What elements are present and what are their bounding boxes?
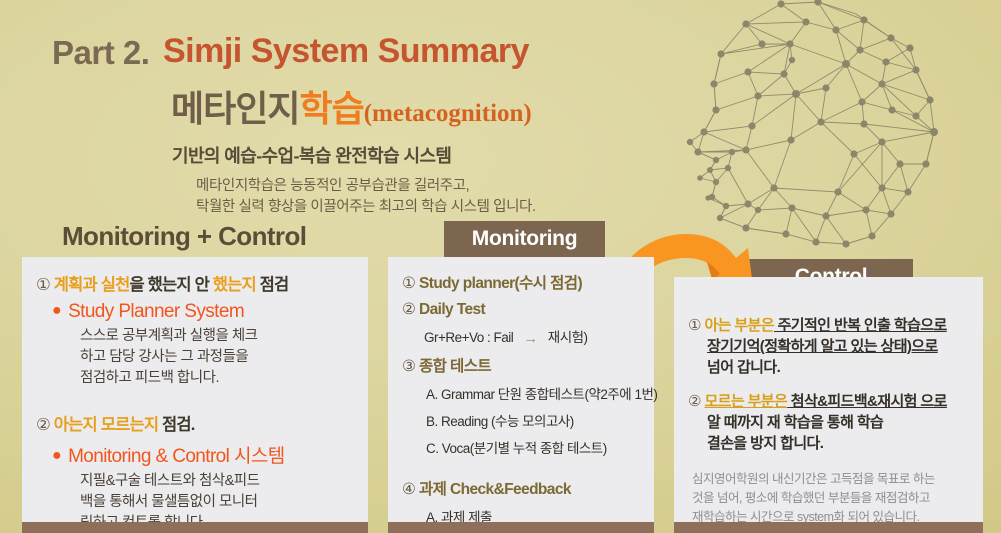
left-item-2-bullet: ●Monitoring & Control 시스템 (52, 441, 356, 468)
control-panel-note: 심지영어학원의 내신기간은 고득점을 목표로 하는 것을 넘어, 평소에 학습했… (692, 470, 971, 527)
monitoring-panel: ① Study planner(수시 점검) ② Daily Test Gr+R… (388, 257, 654, 533)
control-item-1-line-2: 장기기억(정확하게 알고 있는 상태)으로 (707, 338, 938, 355)
daily-test-result: 재시험) (548, 330, 588, 345)
circle-number-1: ① (688, 317, 701, 334)
description-line-1: 메타인지학습은 능동적인 공부습관을 길러주고, (196, 176, 536, 197)
left-item-1-body-line-1: 스스로 공부계획과 실행을 체크 (80, 326, 356, 347)
monitoring-item-2-sub: Gr+Re+Vo : Fail→재시험) (424, 326, 642, 347)
left-item-1-bullet-label: Study Planner System (68, 301, 244, 322)
monitoring-item-3-sub-c: C. Voca(분기별 누적 종합 테스트) (426, 437, 642, 457)
left-item-2-highlight-a: 아는지 모르는지 (54, 416, 158, 434)
left-item-2-body-line-2: 백을 통해서 물샐틈없이 모니터 (80, 492, 356, 513)
control-item-2-line-2: 알 때까지 재 학습을 통해 학습 (707, 414, 883, 431)
left-item-1-post: 점검 (256, 276, 289, 294)
monitoring-item-4: ④ 과제 Check&Feedback (402, 477, 642, 499)
monitoring-chip: Monitoring (444, 221, 605, 257)
bullet-dot-icon: ● (52, 302, 61, 319)
circle-number-2: ② (402, 301, 415, 318)
control-panel-content: ① 아는 부분은 주기적인 반복 인출 학습으로장기기억(정확하게 알고 있는 … (674, 277, 983, 522)
monitoring-item-2: ② Daily Test (402, 300, 642, 319)
monitoring-item-3-label: 종합 테스트 (419, 358, 491, 375)
monitoring-item-1: ① Study planner(수시 점검) (402, 271, 642, 293)
slide-canvas: Part 2. Simji System Summary 메타인지학습(meta… (0, 0, 1001, 533)
metacognition-title: 메타인지학습(metacognition) (171, 80, 532, 132)
control-item-1: ① 아는 부분은 주기적인 반복 인출 학습으로장기기억(정확하게 알고 있는 … (688, 315, 971, 378)
left-item-1-mid: 을 했는지 안 (129, 276, 212, 294)
subtitle: 기반의 예습-수업-복습 완전학습 시스템 (172, 142, 451, 168)
left-item-2-bullet-label: Monitoring & Control 시스템 (68, 446, 285, 467)
description: 메타인지학습은 능동적인 공부습관을 길러주고, 탁월한 실력 향상을 이끌어주… (196, 176, 536, 218)
control-item-2: ② 모르는 부분은 첨삭&피드백&재시험 으로알 때까지 재 학습을 통해 학습… (688, 391, 971, 454)
left-panel-content: ① 계획과 실천을 했는지 안 했는지 점검 ●Study Planner Sy… (22, 257, 368, 522)
control-item-1-line-3: 넘어 갑니다. (707, 359, 780, 376)
control-panel: ① 아는 부분은 주기적인 반복 인출 학습으로장기기억(정확하게 알고 있는 … (674, 277, 983, 533)
left-item-1-highlight-a: 계획과 실천 (54, 276, 130, 294)
circle-number-1: ① (36, 276, 50, 294)
part-label: Part 2. (52, 34, 149, 72)
circle-number-4: ④ (402, 481, 415, 498)
control-item-2-highlight: 모르는 부분은 (704, 393, 787, 410)
monitoring-item-2-label: Daily Test (419, 301, 485, 318)
left-item-1-body-line-3: 점검하고 피드백 합니다. (80, 368, 356, 389)
circle-number-1: ① (402, 275, 415, 292)
left-item-1-bullet: ●Study Planner System (52, 301, 356, 323)
arrow-right-icon: → (523, 330, 538, 347)
monitoring-panel-footer-bar (388, 522, 654, 533)
left-item-1-body-line-2: 하고 담당 강사는 그 과정들을 (80, 347, 356, 368)
left-item-1-body: 스스로 공부계획과 실행을 체크 하고 담당 강사는 그 과정들을 점검하고 피… (80, 326, 356, 389)
metacognition-kr: 메타인지 (171, 88, 299, 129)
control-note-line-1: 심지영어학원의 내신기간은 고득점을 목표로 하는 (692, 470, 971, 489)
monitoring-item-1-label: Study planner(수시 점검) (419, 275, 582, 292)
monitoring-item-3-sub-b: B. Reading (수능 모의고사) (426, 410, 642, 430)
circle-number-3: ③ (402, 358, 415, 375)
control-item-1-highlight: 아는 부분은 (704, 317, 774, 334)
left-item-2-body-line-1: 지필&구술 테스트와 첨삭&피드 (80, 471, 356, 492)
metacognition-en: (metacognition) (364, 100, 532, 127)
monitoring-panel-content: ① Study planner(수시 점검) ② Daily Test Gr+R… (388, 257, 654, 522)
circle-number-2: ② (688, 393, 701, 410)
left-item-2-post: 점검. (158, 416, 194, 434)
page-title: Simji System Summary (163, 32, 529, 71)
control-panel-footer-bar (674, 522, 983, 533)
left-panel-footer-bar (22, 522, 368, 533)
left-panel-spacer (36, 389, 356, 411)
monitoring-item-3-sub-a: A. Grammar 단원 종합테스트(약2주에 1번) (426, 383, 642, 403)
left-item-1-highlight-b: 했는지 (213, 276, 256, 294)
daily-test-formula: Gr+Re+Vo : Fail (424, 330, 513, 345)
circle-number-2: ② (36, 416, 50, 434)
control-note-line-2: 것을 넘어, 평소에 학습했던 부분들을 재점검하고 (692, 489, 971, 508)
left-item-2-heading: ② 아는지 모르는지 점검. (36, 411, 356, 435)
monitoring-control-heading: Monitoring + Control (62, 221, 306, 252)
title-block: Part 2. Simji System Summary 메타인지학습(meta… (0, 18, 640, 213)
control-item-2-line-3: 결손을 방지 합니다. (707, 435, 823, 452)
monitoring-panel-spacer (402, 464, 642, 477)
control-item-2-rest: 첨삭&피드백&재시험 으로 (787, 393, 947, 410)
left-item-1-heading: ① 계획과 실천을 했는지 안 했는지 점검 (36, 271, 356, 295)
monitoring-item-4-label: 과제 Check&Feedback (419, 481, 571, 498)
metacognition-kr-highlight: 학습 (299, 88, 363, 129)
control-item-1-rest: 주기적인 반복 인출 학습으로 (774, 317, 947, 334)
monitoring-item-3: ③ 종합 테스트 (402, 354, 642, 376)
description-line-2: 탁월한 실력 향상을 이끌어주는 최고의 학습 시스템 입니다. (196, 197, 536, 218)
left-panel: ① 계획과 실천을 했는지 안 했는지 점검 ●Study Planner Sy… (22, 257, 368, 533)
bullet-dot-icon: ● (52, 447, 61, 464)
